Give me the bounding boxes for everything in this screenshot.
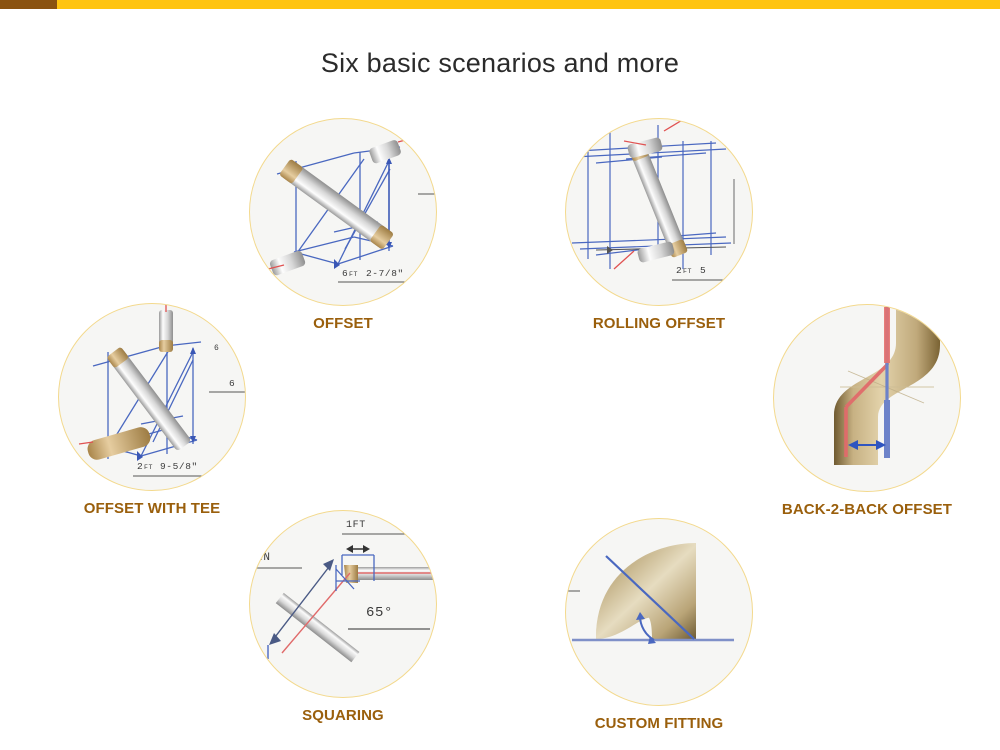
offset-diagram: 6 FT 2-7/8" xyxy=(249,118,437,306)
squaring-diagram: 1FT 5IN 65° xyxy=(249,510,437,698)
offset-with-tee-illustration: 2 FT 9-5/8" 6 6 xyxy=(59,304,245,490)
scenario-offset[interactable]: 6 FT 2-7/8" OFFSET xyxy=(249,118,437,332)
offset-dimension-label: 6 FT 2-7/8" xyxy=(338,268,416,282)
custom-fitting-illustration xyxy=(566,519,752,705)
back-2-back-offset-diagram xyxy=(773,304,961,492)
back-2-back-offset-caption: BACK-2-BACK OFFSET xyxy=(773,501,961,518)
offset-caption: OFFSET xyxy=(249,315,437,332)
page-title: Six basic scenarios and more xyxy=(0,48,1000,79)
squaring-run-label: 1FT xyxy=(342,520,422,534)
tee-edge-dimension-2: 6 xyxy=(229,378,235,389)
rolling-offset-dimension-unit: FT xyxy=(683,268,692,275)
scenario-rolling-offset[interactable]: 2 FT 5 ROLLING OFFSET xyxy=(565,118,753,332)
accent-bar-brown-segment xyxy=(0,0,57,9)
custom-fitting-diagram xyxy=(565,518,753,706)
offset-illustration: 6 FT 2-7/8" xyxy=(250,119,436,305)
squaring-angle-label: 65° xyxy=(348,605,430,629)
tee-dimension-minor: 9-5/8" xyxy=(160,461,198,472)
offset-dimension-major: 6 xyxy=(342,268,348,279)
scenario-back-2-back-offset[interactable]: BACK-2-BACK OFFSET xyxy=(773,304,961,518)
offset-with-tee-diagram: 2 FT 9-5/8" 6 6 xyxy=(58,303,246,491)
rolling-offset-caption: ROLLING OFFSET xyxy=(565,315,753,332)
squaring-run-dimension: 1FT xyxy=(346,520,366,531)
rolling-offset-dimension-major: 2 xyxy=(676,265,682,276)
back-2-back-offset-illustration xyxy=(774,305,960,491)
scenario-squaring[interactable]: 1FT 5IN 65° SQUARING xyxy=(249,510,437,724)
offset-dimension-unit: FT xyxy=(349,271,358,278)
custom-fitting-caption: CUSTOM FITTING xyxy=(565,715,753,732)
slide-canvas: Six basic scenarios and more xyxy=(0,0,1000,750)
rolling-offset-dimension-minor: 5 xyxy=(700,265,706,276)
squaring-rise-dimension: 5IN xyxy=(250,552,271,564)
scenario-custom-fitting[interactable]: CUSTOM FITTING xyxy=(565,518,753,732)
rolling-offset-dimension-label: 2 FT 5 xyxy=(672,265,746,280)
top-accent-bar xyxy=(0,0,1000,9)
rolling-offset-diagram: 2 FT 5 xyxy=(565,118,753,306)
tee-edge-dimension-1: 6 xyxy=(214,344,219,353)
tee-dimension-unit: FT xyxy=(144,464,153,471)
offset-with-tee-dimension-label: 2 FT 9-5/8" xyxy=(133,461,219,476)
squaring-illustration: 1FT 5IN 65° xyxy=(250,511,436,697)
offset-with-tee-caption: OFFSET WITH TEE xyxy=(58,500,246,517)
tee-dimension-major: 2 xyxy=(137,461,143,472)
scenario-offset-with-tee[interactable]: 2 FT 9-5/8" 6 6 OFFSET WITH TEE xyxy=(58,303,246,517)
rolling-offset-illustration: 2 FT 5 xyxy=(566,119,752,305)
squaring-caption: SQUARING xyxy=(249,707,437,724)
accent-bar-gold-segment xyxy=(57,0,1000,9)
offset-dimension-minor: 2-7/8" xyxy=(366,268,404,279)
squaring-angle-dimension: 65° xyxy=(366,605,393,621)
squaring-rise-label: 5IN xyxy=(250,552,302,568)
